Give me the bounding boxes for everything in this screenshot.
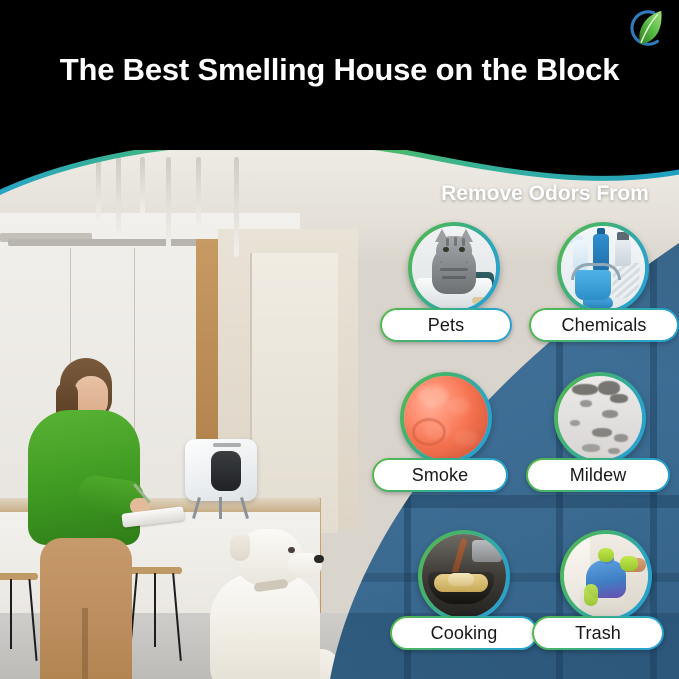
odor-category-mildew[interactable]: Mildew	[526, 372, 676, 522]
panel-heading: Remove Odors From	[420, 182, 670, 206]
pendant-light	[96, 157, 101, 223]
air-purifier	[185, 439, 257, 505]
trash-bag-icon	[560, 530, 652, 622]
pendant-light	[140, 157, 145, 215]
product-ad-image: The Best Smelling House on the Block Rem…	[0, 0, 679, 679]
pendant-light	[196, 157, 201, 229]
pendant-light	[116, 157, 121, 239]
glove-lower	[584, 584, 598, 606]
frying-pan-icon	[418, 530, 510, 622]
odor-label-trash: Trash	[532, 616, 664, 650]
cleaning-supplies-icon	[557, 222, 649, 314]
pendant-light	[234, 157, 239, 257]
woman-figure	[18, 358, 148, 679]
odor-label-smoke: Smoke	[372, 458, 508, 492]
wood-column	[196, 239, 218, 439]
pendant-light	[166, 157, 171, 249]
glove-left	[598, 548, 614, 562]
leaf-logo	[625, 6, 667, 50]
ember-smoke-icon	[400, 372, 492, 464]
header-bar: The Best Smelling House on the Block	[0, 0, 679, 150]
doorway	[250, 253, 338, 533]
mildew-mold-icon	[554, 372, 646, 464]
odor-label-mildew: Mildew	[526, 458, 670, 492]
odor-label-cooking: Cooking	[390, 616, 538, 650]
odor-category-smoke[interactable]: Smoke	[372, 372, 522, 522]
odor-category-pets[interactable]: Pets	[380, 222, 530, 372]
odor-label-chemicals: Chemicals	[529, 308, 679, 342]
dog-figure	[196, 529, 336, 679]
odor-category-chemicals[interactable]: Chemicals	[529, 222, 679, 372]
odor-category-trash[interactable]: Trash	[532, 530, 679, 679]
cat-litter-box-icon	[408, 222, 500, 314]
odor-category-cooking[interactable]: Cooking	[390, 530, 540, 679]
glove-right	[620, 556, 638, 571]
odor-category-grid: Pets	[380, 222, 679, 672]
page-title: The Best Smelling House on the Block	[0, 52, 679, 88]
odor-label-pets: Pets	[380, 308, 512, 342]
